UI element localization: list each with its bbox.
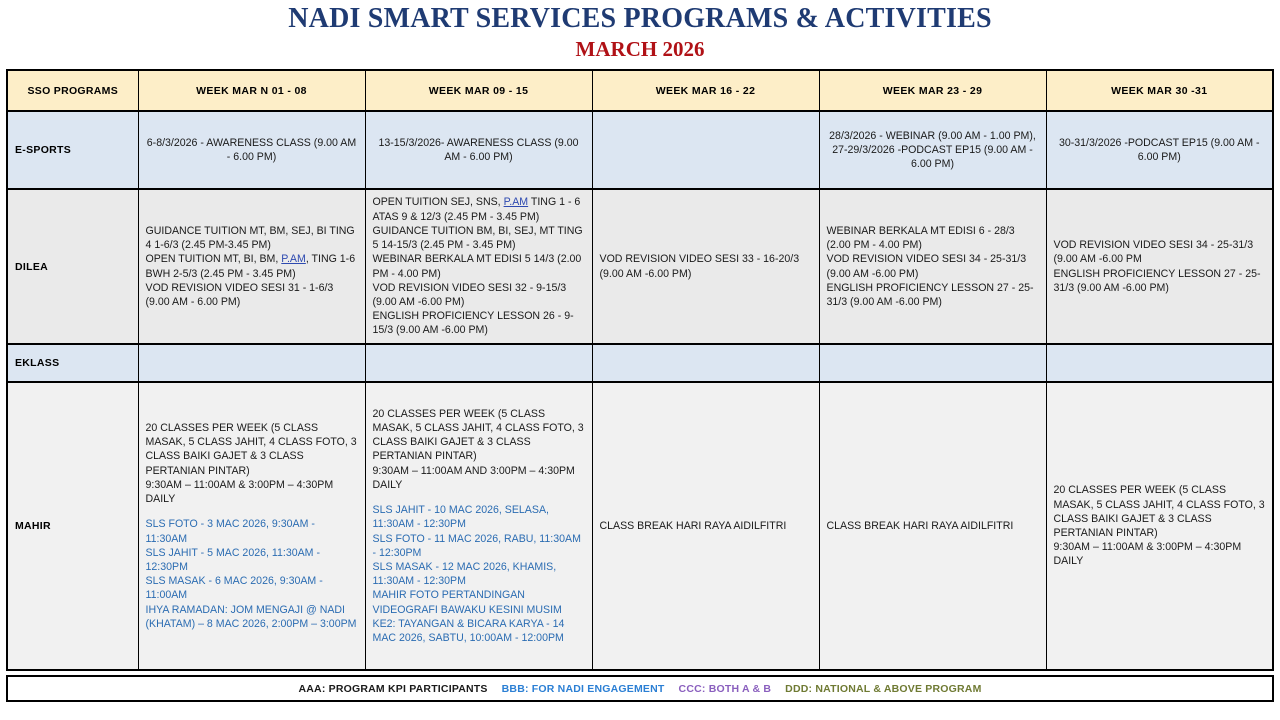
cell-eklass-week-3 (592, 344, 819, 382)
table-row: MAHIR20 CLASSES PER WEEK (5 CLASS MASAK,… (7, 382, 1273, 670)
cell-e-sports-week-2: 13-15/3/2026- AWARENESS CLASS (9.00 AM -… (365, 111, 592, 189)
cell-dilea-week-4: WEBINAR BERKALA MT EDISI 6 - 28/3 (2.00 … (819, 189, 1046, 344)
cell-text: GUIDANCE TUITION MT, BM, SEJ, BI TING 4 … (146, 225, 356, 308)
cell-dilea-week-2: OPEN TUITION SEJ, SNS, P.AM TING 1 - 6 A… (365, 189, 592, 344)
cell-eklass-week-5 (1046, 344, 1273, 382)
header-row: SSO PROGRAMS WEEK MAR N 01 - 08 WEEK MAR… (7, 70, 1273, 111)
row-label-mahir: MAHIR (7, 382, 138, 670)
cell-e-sports-week-1: 6-8/3/2026 - AWARENESS CLASS (9.00 AM - … (138, 111, 365, 189)
cell-text: 30-31/3/2026 -PODCAST EP15 (9.00 AM - 6.… (1059, 137, 1260, 163)
table-row: DILEAGUIDANCE TUITION MT, BM, SEJ, BI TI… (7, 189, 1273, 344)
column-header-week-4: WEEK MAR 23 - 29 (819, 70, 1046, 111)
legend-items: AAA: PROGRAM KPI PARTICIPANTSBBB: FOR NA… (298, 683, 981, 695)
cell-text: CLASS BREAK HARI RAYA AIDILFITRI (600, 520, 787, 532)
legend-item-2: BBB: FOR NADI ENGAGEMENT (502, 683, 665, 695)
inline-link-pam[interactable]: P.AM (281, 253, 306, 265)
cell-dilea-week-5: VOD REVISION VIDEO SESI 34 - 25-31/3 (9.… (1046, 189, 1273, 344)
legend-item-4: DDD: NATIONAL & ABOVE PROGRAM (785, 683, 981, 695)
cell-dilea-week-3: VOD REVISION VIDEO SESI 33 - 16-20/3 (9.… (592, 189, 819, 344)
cell-text: 28/3/2026 - WEBINAR (9.00 AM - 1.00 PM),… (829, 130, 1036, 170)
cell-text: VOD REVISION VIDEO SESI 33 - 16-20/3 (9.… (600, 253, 800, 279)
cell-text: 20 CLASSES PER WEEK (5 CLASS MASAK, 5 CL… (1054, 484, 1265, 567)
row-label-dilea: DILEA (7, 189, 138, 344)
cell-text: CLASS BREAK HARI RAYA AIDILFITRI (827, 520, 1014, 532)
schedule-page: NADI SMART SERVICES PROGRAMS & ACTIVITIE… (0, 0, 1280, 720)
cell-text-primary: 20 CLASSES PER WEEK (5 CLASS MASAK, 5 CL… (146, 422, 357, 505)
legend-item-1: AAA: PROGRAM KPI PARTICIPANTS (298, 683, 487, 695)
cell-text: WEBINAR BERKALA MT EDISI 6 - 28/3 (2.00 … (827, 225, 1034, 308)
cell-text-highlight: SLS JAHIT - 10 MAC 2026, SELASA, 11:30AM… (373, 504, 581, 644)
cell-eklass-week-4 (819, 344, 1046, 382)
table-body: E-SPORTS6-8/3/2026 - AWARENESS CLASS (9.… (7, 111, 1273, 670)
cell-text: OPEN TUITION SEJ, SNS, P.AM TING 1 - 6 A… (373, 196, 583, 336)
cell-mahir-week-2: 20 CLASSES PER WEEK (5 CLASS MASAK, 5 CL… (365, 382, 592, 670)
row-label-e-sports: E-SPORTS (7, 111, 138, 189)
row-label-eklass: EKLASS (7, 344, 138, 382)
inline-link-pam[interactable]: P.AM (504, 196, 529, 208)
cell-dilea-week-1: GUIDANCE TUITION MT, BM, SEJ, BI TING 4 … (138, 189, 365, 344)
schedule-table-wrapper: SSO PROGRAMS WEEK MAR N 01 - 08 WEEK MAR… (6, 69, 1274, 671)
legend-item-3: CCC: BOTH A & B (679, 683, 772, 695)
cell-spacer (146, 506, 358, 517)
schedule-table: SSO PROGRAMS WEEK MAR N 01 - 08 WEEK MAR… (6, 69, 1274, 671)
cell-e-sports-week-3 (592, 111, 819, 189)
legend-bar: AAA: PROGRAM KPI PARTICIPANTSBBB: FOR NA… (6, 675, 1274, 702)
cell-mahir-week-4: CLASS BREAK HARI RAYA AIDILFITRI (819, 382, 1046, 670)
column-header-week-1: WEEK MAR N 01 - 08 (138, 70, 365, 111)
page-title: NADI SMART SERVICES PROGRAMS & ACTIVITIE… (0, 4, 1280, 34)
cell-mahir-week-3: CLASS BREAK HARI RAYA AIDILFITRI (592, 382, 819, 670)
title-block: NADI SMART SERVICES PROGRAMS & ACTIVITIE… (0, 0, 1280, 61)
cell-text: 13-15/3/2026- AWARENESS CLASS (9.00 AM -… (378, 137, 578, 163)
cell-mahir-week-1: 20 CLASSES PER WEEK (5 CLASS MASAK, 5 CL… (138, 382, 365, 670)
cell-text-highlight: SLS FOTO - 3 MAC 2026, 9:30AM - 11:30AM … (146, 518, 357, 629)
column-header-week-3: WEEK MAR 16 - 22 (592, 70, 819, 111)
table-row: E-SPORTS6-8/3/2026 - AWARENESS CLASS (9.… (7, 111, 1273, 189)
cell-e-sports-week-4: 28/3/2026 - WEBINAR (9.00 AM - 1.00 PM),… (819, 111, 1046, 189)
cell-text: 6-8/3/2026 - AWARENESS CLASS (9.00 AM - … (147, 137, 356, 163)
cell-text: VOD REVISION VIDEO SESI 34 - 25-31/3 (9.… (1054, 239, 1261, 294)
page-subtitle: MARCH 2026 (0, 37, 1280, 61)
cell-mahir-week-5: 20 CLASSES PER WEEK (5 CLASS MASAK, 5 CL… (1046, 382, 1273, 670)
cell-text-primary: 20 CLASSES PER WEEK (5 CLASS MASAK, 5 CL… (373, 408, 584, 491)
column-header-sso-programs: SSO PROGRAMS (7, 70, 138, 111)
column-header-week-5: WEEK MAR 30 -31 (1046, 70, 1273, 111)
table-head: SSO PROGRAMS WEEK MAR N 01 - 08 WEEK MAR… (7, 70, 1273, 111)
cell-eklass-week-2 (365, 344, 592, 382)
column-header-week-2: WEEK MAR 09 - 15 (365, 70, 592, 111)
cell-spacer (373, 492, 585, 503)
table-row: EKLASS (7, 344, 1273, 382)
cell-e-sports-week-5: 30-31/3/2026 -PODCAST EP15 (9.00 AM - 6.… (1046, 111, 1273, 189)
cell-eklass-week-1 (138, 344, 365, 382)
